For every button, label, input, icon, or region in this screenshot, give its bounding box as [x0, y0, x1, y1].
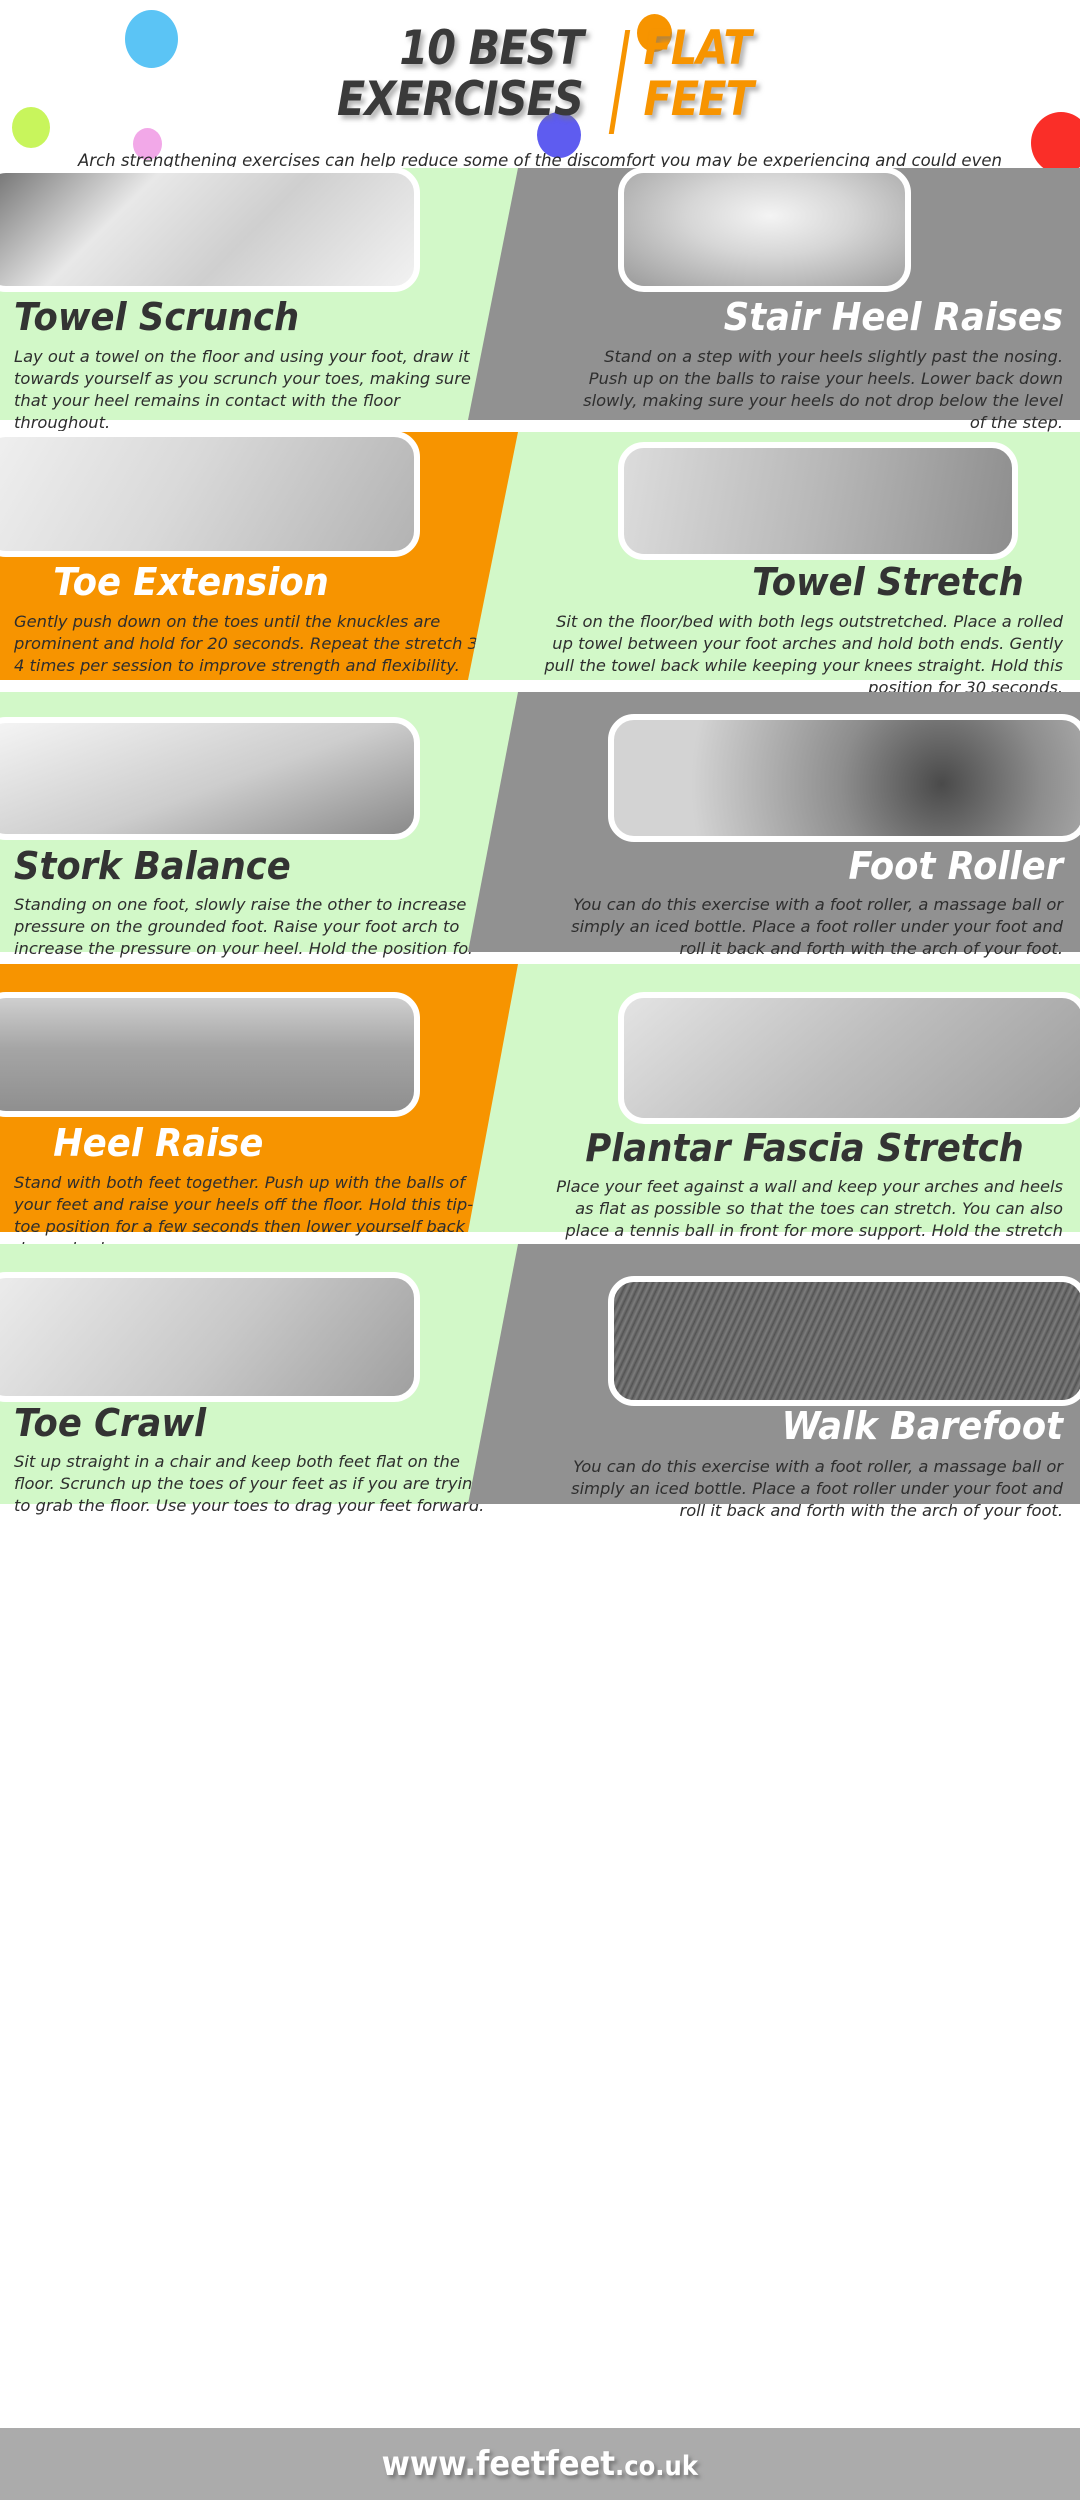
exercise-title-1: Towel Scrunch	[14, 298, 535, 338]
exercise-image-9	[0, 1272, 420, 1402]
exercise-image-5	[0, 717, 420, 840]
exercise-card-4[interactable]: Towel Stretch Sit on the floor/bed with …	[468, 432, 1080, 680]
exercise-title-10: Walk Barefoot	[542, 1407, 1063, 1447]
exercise-body-2: Stand on a step with your heels slightly…	[563, 346, 1063, 435]
exercise-row-3: Stork Balance Standing on one foot, slow…	[0, 692, 1080, 952]
exercise-title-2: Stair Heel Raises	[542, 298, 1063, 338]
title-divider	[609, 30, 630, 134]
exercise-title-6: Foot Roller	[542, 847, 1063, 887]
exercise-image-4	[618, 442, 1018, 560]
exercise-title-9: Toe Crawl	[14, 1404, 535, 1444]
footer-url-main: www.feetfeet	[382, 2444, 615, 2484]
exercise-body-9: Sit up straight in a chair and keep both…	[14, 1451, 492, 1517]
exercise-row-5: Toe Crawl Sit up straight in a chair and…	[0, 1244, 1080, 1504]
exercise-title-5: Stork Balance	[14, 847, 535, 887]
title-left-block: 10 BEST EXERCISES	[337, 24, 586, 126]
exercise-row-4: Heel Raise Stand with both feet together…	[0, 964, 1080, 1232]
footer-url-tld: .co.uk	[615, 2451, 698, 2482]
title-line-4: FEET	[643, 75, 752, 126]
title-line-3: FLAT	[643, 24, 752, 75]
footer-bar: www.feetfeet.co.uk	[0, 2428, 1080, 2500]
exercise-body-10: You can do this exercise with a foot rol…	[563, 1456, 1063, 1522]
exercise-row-2: Toe Extension Gently push down on the to…	[0, 432, 1080, 680]
exercise-card-2[interactable]: Stair Heel Raises Stand on a step with y…	[468, 168, 1080, 420]
footer-website-url[interactable]: www.feetfeet.co.uk	[382, 2444, 698, 2484]
exercise-body-6: You can do this exercise with a foot rol…	[563, 894, 1063, 960]
exercise-row-1: Towel Scrunch Lay out a towel on the flo…	[0, 168, 1080, 420]
title-line-1: 10 BEST	[337, 24, 583, 75]
exercise-image-3	[0, 431, 420, 557]
exercise-card-8[interactable]: Plantar Fascia Stretch Place your feet a…	[468, 964, 1080, 1232]
title-line-2: EXERCISES	[337, 75, 583, 126]
exercise-title-4: Towel Stretch	[503, 563, 1024, 603]
exercise-image-2	[618, 167, 911, 292]
exercise-image-10	[608, 1276, 1080, 1406]
exercise-image-7	[0, 992, 420, 1117]
exercise-image-1	[0, 167, 420, 292]
title-right-block: FLAT FEET	[643, 24, 752, 126]
exercise-title-8: Plantar Fascia Stretch	[503, 1129, 1024, 1169]
exercise-image-8	[618, 992, 1080, 1124]
page-title: 10 BEST EXERCISES FLAT FEET	[0, 24, 1080, 134]
exercise-body-3: Gently push down on the toes until the k…	[14, 611, 492, 677]
exercise-body-1: Lay out a towel on the floor and using y…	[14, 346, 492, 435]
exercise-card-6[interactable]: Foot Roller You can do this exercise wit…	[468, 692, 1080, 952]
exercise-image-6	[608, 714, 1080, 842]
exercise-body-4: Sit on the floor/bed with both legs outs…	[543, 611, 1063, 700]
exercise-card-10[interactable]: Walk Barefoot You can do this exercise w…	[468, 1244, 1080, 1504]
